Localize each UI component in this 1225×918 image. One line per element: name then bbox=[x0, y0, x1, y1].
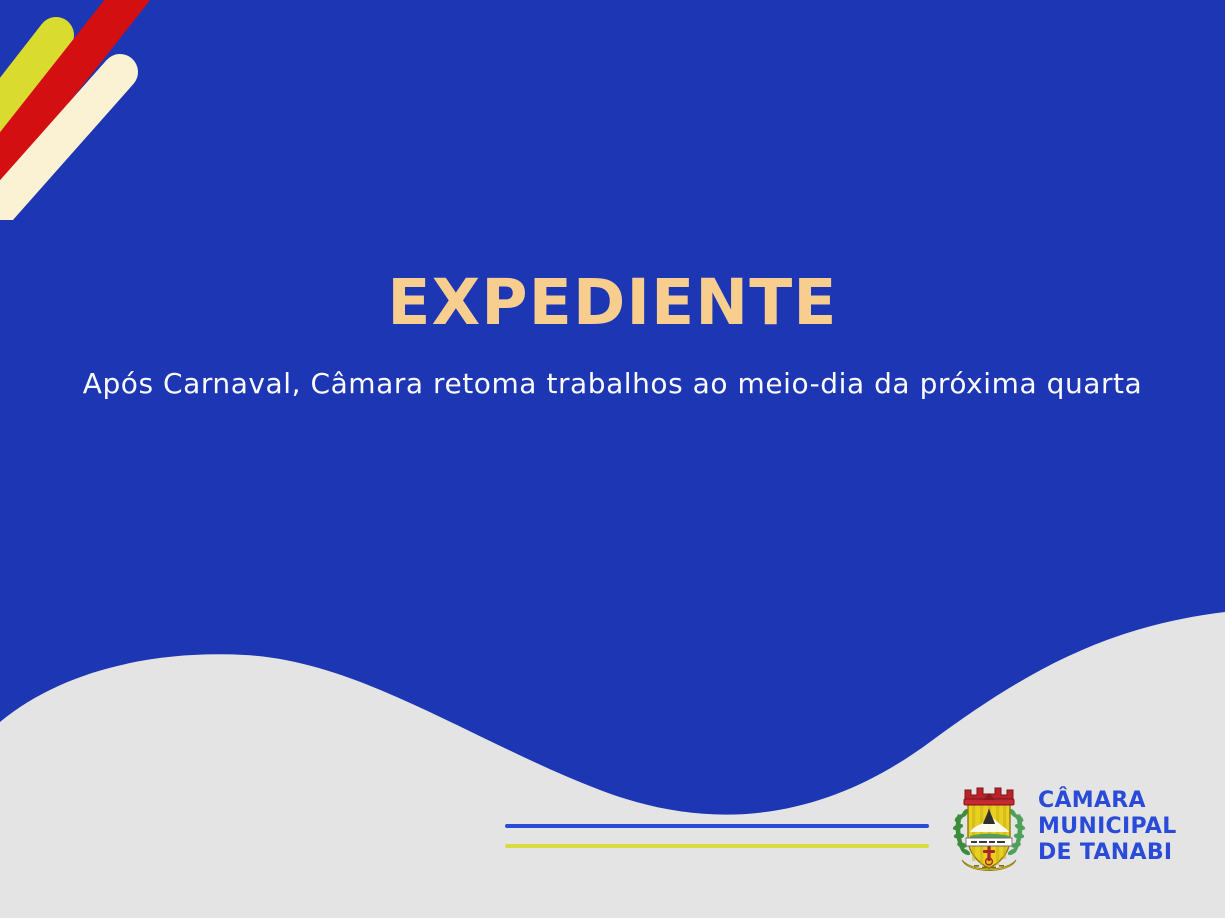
crest-banner bbox=[966, 838, 1012, 846]
headline-block: EXPEDIENTE Após Carnaval, Câmara retoma … bbox=[0, 270, 1225, 401]
logo-lockup: CÂMARA MUNICIPAL DE TANABI bbox=[952, 780, 1177, 874]
rule-blue bbox=[505, 824, 929, 828]
page-title: EXPEDIENTE bbox=[0, 270, 1225, 336]
coat-of-arms-icon bbox=[952, 780, 1026, 874]
decorative-rules bbox=[505, 824, 929, 848]
logo-wordmark: CÂMARA MUNICIPAL DE TANABI bbox=[1038, 788, 1177, 865]
logo-line-3: DE TANABI bbox=[1038, 840, 1177, 866]
slide-canvas: EXPEDIENTE Após Carnaval, Câmara retoma … bbox=[0, 0, 1225, 918]
rule-yellow bbox=[505, 844, 929, 848]
logo-line-2: MUNICIPAL bbox=[1038, 814, 1177, 840]
page-subtitle: Após Carnaval, Câmara retoma trabalhos a… bbox=[0, 336, 1225, 401]
crest-crown bbox=[964, 788, 1014, 805]
logo-line-1: CÂMARA bbox=[1038, 788, 1177, 814]
